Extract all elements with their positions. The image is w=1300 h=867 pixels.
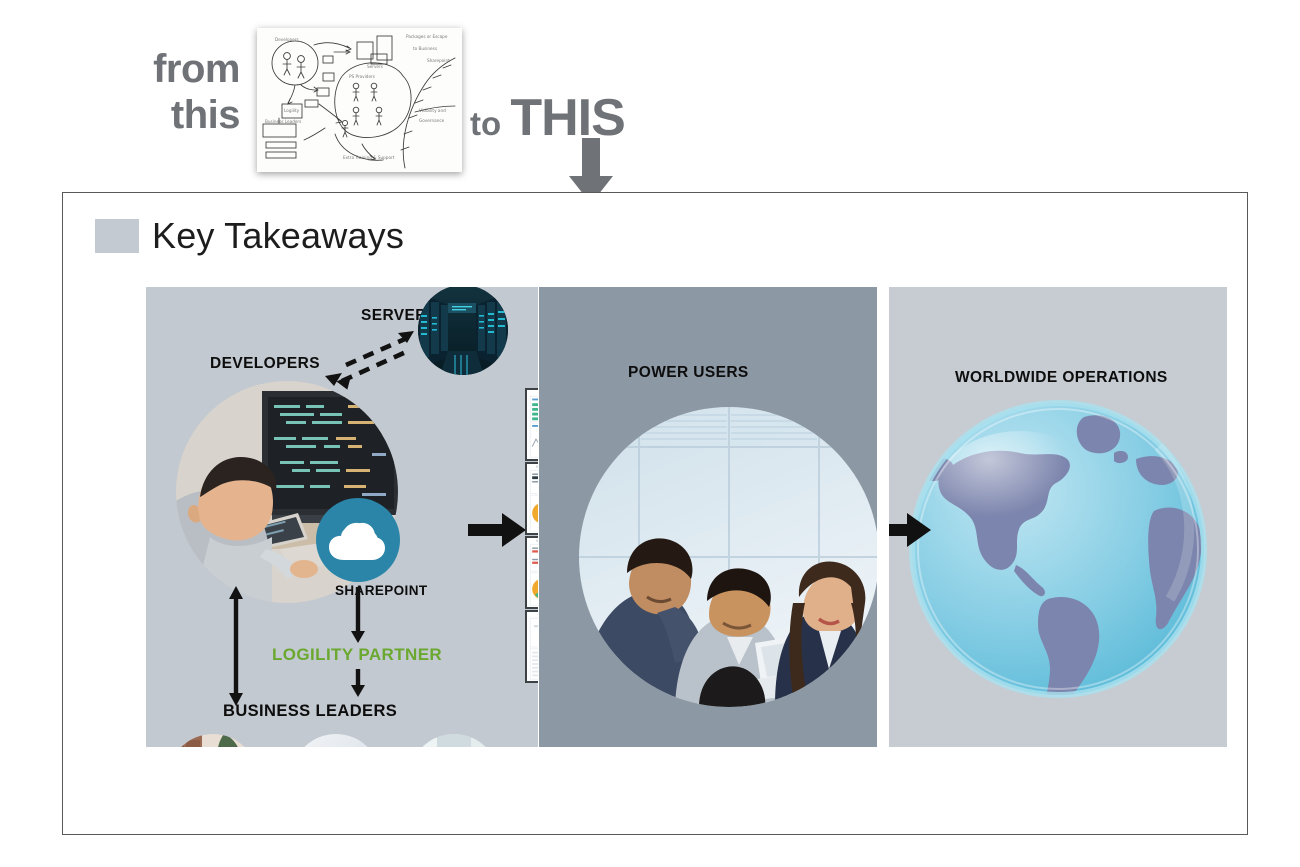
dashboard-screenshot-2 <box>525 462 538 535</box>
power-users-team-photo <box>579 407 877 707</box>
svg-text:Packages or Escape: Packages or Escape <box>406 34 448 39</box>
servers-datacenter-photo <box>418 287 508 375</box>
svg-text:Business Leaders: Business Leaders <box>265 119 301 124</box>
svg-text:Logility: Logility <box>284 108 300 113</box>
dashboard-screenshots-stack <box>525 388 538 685</box>
svg-text:Developers: Developers <box>275 37 299 42</box>
logility-partner-label: LOGILITY PARTNER <box>272 645 442 665</box>
sharepoint-to-dashboards-arrow <box>468 513 526 547</box>
dashboard-screenshot-4 <box>525 610 538 683</box>
developers-panel: SERVERS DEVELOPERS <box>146 287 538 747</box>
sharepoint-cloud-icon <box>316 498 400 582</box>
globe-illustration <box>908 399 1208 699</box>
from-this-label: from this <box>110 46 240 138</box>
business-leader-photo-2 <box>291 734 381 747</box>
business-leader-photo-3 <box>409 734 499 747</box>
from-this-line-1: from <box>110 46 240 92</box>
worldwide-operations-label: WORLDWIDE OPERATIONS <box>955 369 1168 387</box>
whiteboard-sketch-photo: Developers PS Providers Packages or Esca… <box>257 28 462 172</box>
business-leader-photo-1 <box>168 734 258 747</box>
logility-to-business-arrow <box>351 669 365 697</box>
slide-content-frame: Key Takeaways SERVERS DEVELOPERS <box>62 192 1248 835</box>
developers-label: DEVELOPERS <box>210 355 320 373</box>
to-this-small-text: to <box>470 105 510 142</box>
middle-to-worldwide-arrow <box>889 513 931 547</box>
worldwide-operations-panel: WORLDWIDE OPERATIONS <box>889 287 1227 747</box>
svg-text:Extra Training & Support: Extra Training & Support <box>343 155 395 160</box>
from-this-line-2: this <box>110 92 240 138</box>
header-band: from this <box>0 0 1300 192</box>
business-leaders-label: BUSINESS LEADERS <box>223 702 397 721</box>
developers-business-double-arrow <box>229 586 243 706</box>
svg-text:Servers: Servers <box>367 64 383 69</box>
sharepoint-label: SHAREPOINT <box>335 583 428 598</box>
svg-text:Sharepoint: Sharepoint <box>427 58 450 63</box>
page-title: Key Takeaways <box>95 215 404 257</box>
dashboard-screenshot-3 <box>525 536 538 609</box>
power-users-panel: POWER USERS <box>539 287 877 747</box>
page-title-text: Key Takeaways <box>152 215 404 257</box>
title-swatch <box>95 219 139 253</box>
power-users-label: POWER USERS <box>628 364 749 382</box>
svg-text:to Business: to Business <box>413 46 437 51</box>
dashboard-screenshot-1 <box>525 388 538 461</box>
svg-text:Governance: Governance <box>419 118 445 123</box>
svg-text:PS Providers: PS Providers <box>349 74 375 79</box>
svg-text:Visibility and: Visibility and <box>419 108 446 113</box>
